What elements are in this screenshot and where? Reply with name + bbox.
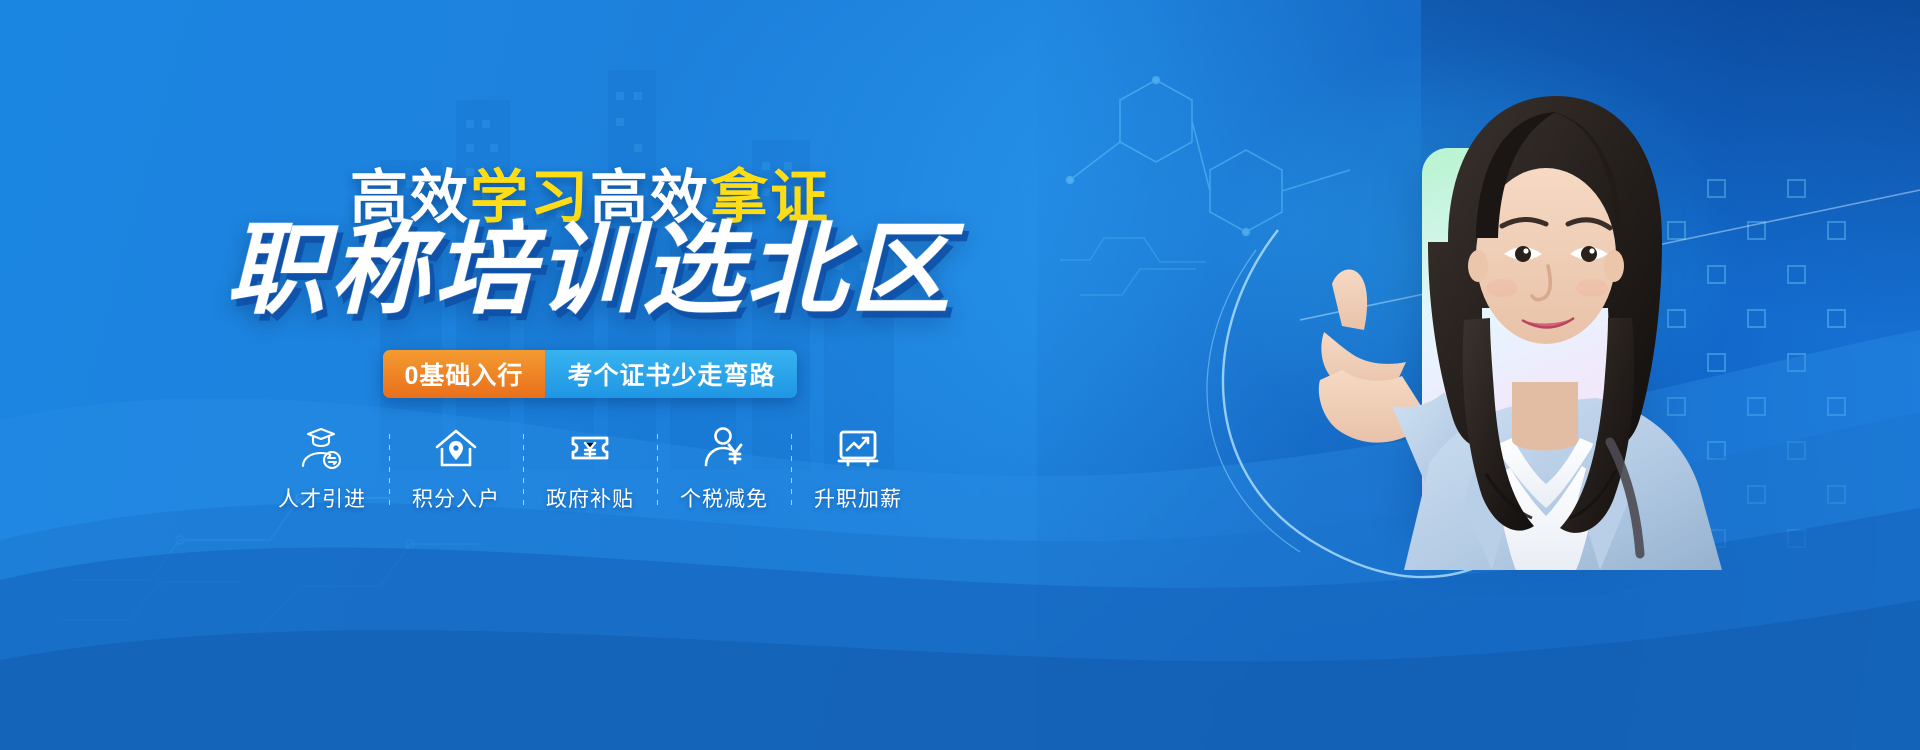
feature-label: 升职加薪 [814,483,902,513]
feature-label: 政府补贴 [546,483,634,513]
presenter-photo [1280,70,1750,570]
feature-item-talent-introduction[interactable]: 人才引进 [256,425,389,513]
feature-list: 人才引进 积分入户 [0,425,1180,513]
feature-label: 人才引进 [278,483,366,513]
feature-item-points-residency[interactable]: 积分入户 [390,425,523,513]
badge-left-label: 0基础入行 [383,350,546,398]
title-accent-chip [639,224,703,250]
banner-content: 高效学习高效拿证 职称培训选北区 0基础入行 考个证书少走弯路 [0,0,1180,750]
person-yuan-icon [701,425,747,471]
promo-banner: 高效学习高效拿证 职称培训选北区 0基础入行 考个证书少走弯路 [0,0,1920,750]
right-visual-group [1160,0,1920,750]
graduate-exchange-icon [299,425,345,471]
feature-label: 个税减免 [680,483,768,513]
feature-label: 积分入户 [412,483,500,513]
feature-item-government-subsidy[interactable]: 政府补贴 [524,425,657,513]
main-title: 职称培训选北区 [0,218,1180,323]
main-title-text: 职称培训选北区 [226,218,954,323]
growth-chart-icon [835,425,881,471]
house-pin-icon [433,425,479,471]
tagline-badge: 0基础入行 考个证书少走弯路 [0,350,1180,398]
ticket-yuan-icon [567,425,613,471]
feature-item-tax-reduction[interactable]: 个税减免 [658,425,791,513]
feature-item-promotion-raise[interactable]: 升职加薪 [792,425,925,513]
badge-right-label: 考个证书少走弯路 [545,350,797,398]
